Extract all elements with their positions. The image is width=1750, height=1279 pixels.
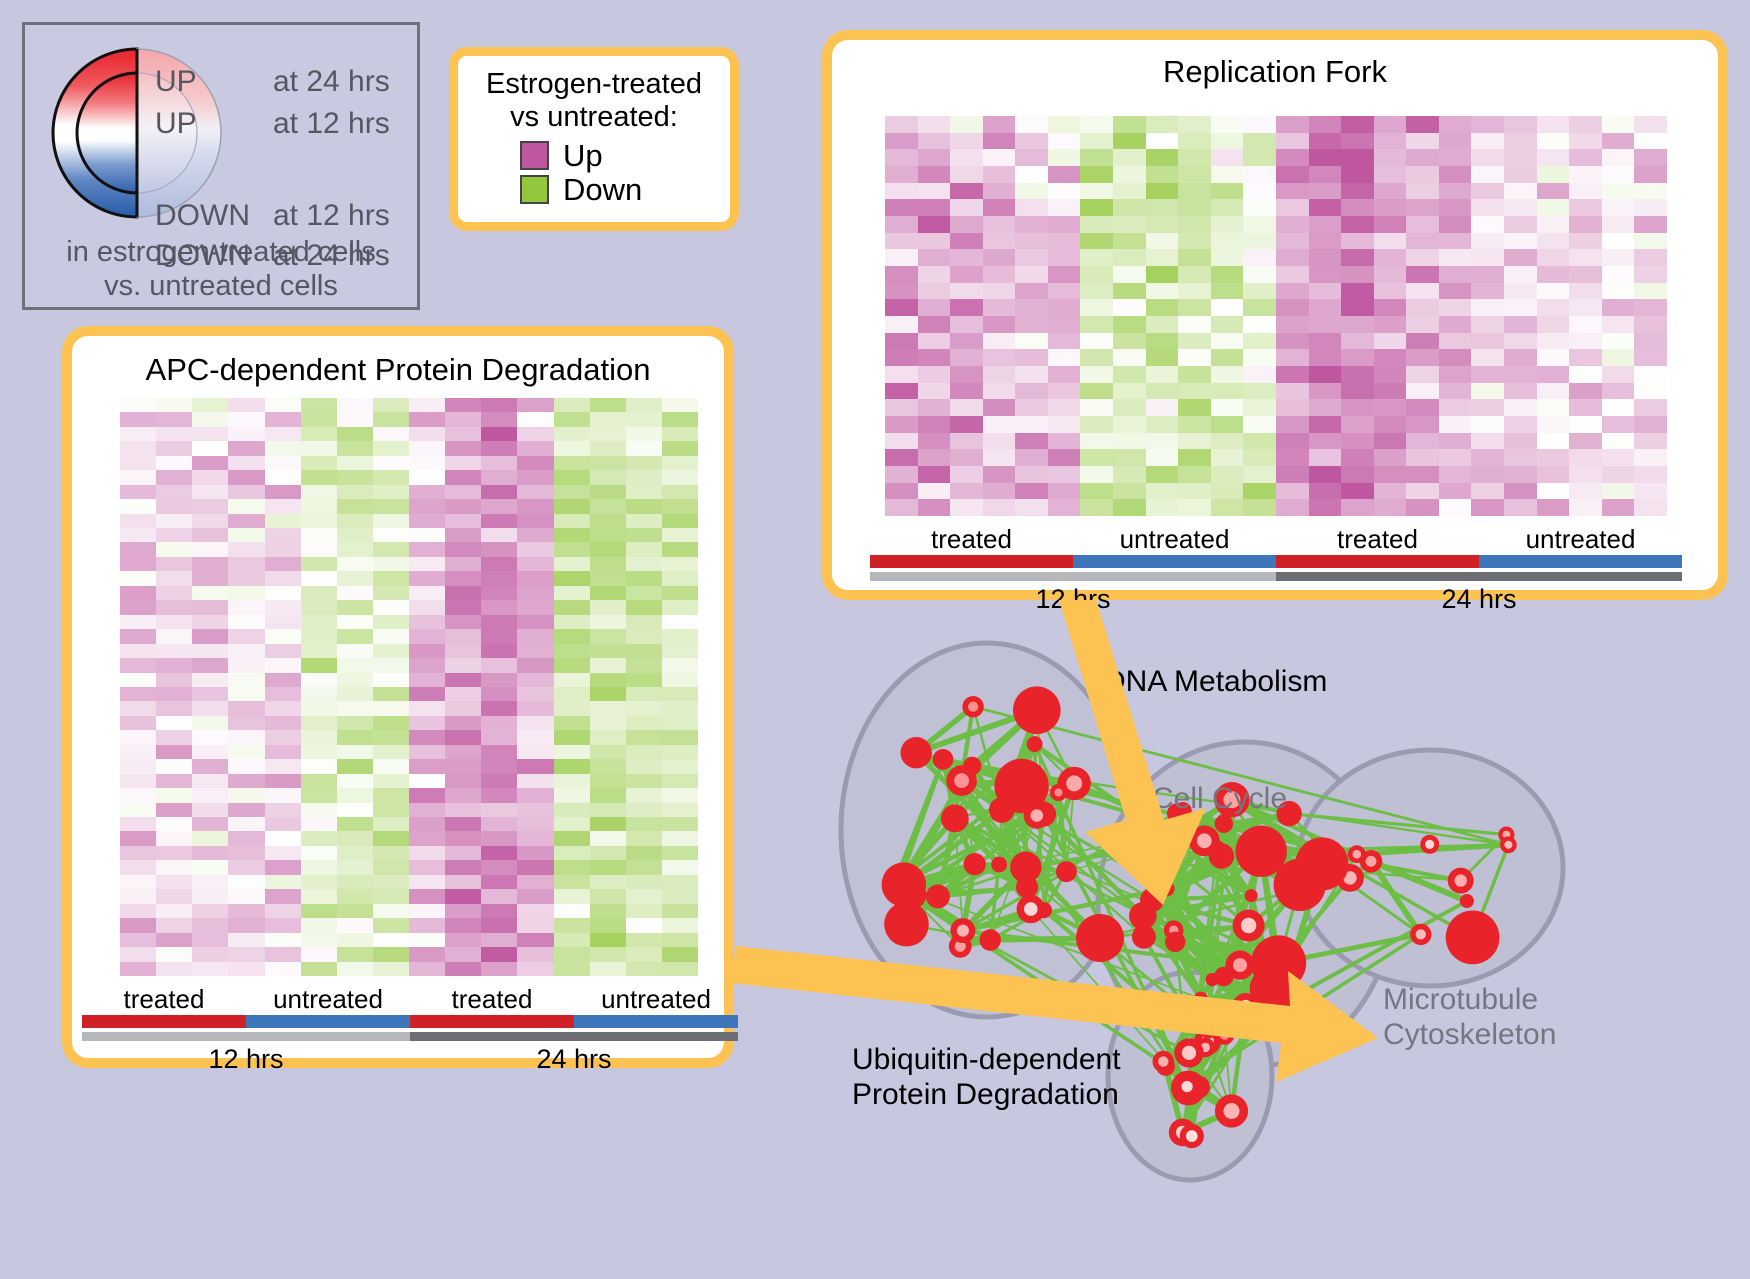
heatmap-cell (517, 542, 553, 556)
heatmap-cell (409, 759, 445, 773)
network-node[interactable] (1013, 686, 1061, 734)
heatmap-cell (445, 398, 481, 412)
heatmap-cell (120, 658, 156, 672)
heatmap-cell (950, 483, 983, 500)
heatmap-cell (120, 774, 156, 788)
heatmap-cell (1634, 149, 1667, 166)
heatmap-cell (373, 571, 409, 585)
heatmap-cell (1276, 316, 1309, 333)
heatmap-cell (445, 817, 481, 831)
heatmap-cell (1080, 449, 1113, 466)
heatmap-cell (1211, 249, 1244, 266)
network-node[interactable] (964, 853, 986, 875)
up-swatch-icon (520, 141, 549, 170)
network-node[interactable] (1245, 889, 1258, 902)
heatmap-cell (120, 687, 156, 701)
heatmap-cell (1309, 149, 1342, 166)
heatmap-cell (481, 441, 517, 455)
heatmap-cell (409, 499, 445, 513)
heatmap-cell (337, 528, 373, 542)
heatmap-cell (301, 470, 337, 484)
heatmap-cell (156, 831, 192, 845)
heatmap-cell (409, 933, 445, 947)
heatmap-cell (1374, 483, 1407, 500)
heatmap-cell (445, 831, 481, 845)
heatmap-cell (1276, 116, 1309, 133)
heatmap-cell (1471, 183, 1504, 200)
heatmap-cell (1113, 399, 1146, 416)
heatmap-cell (918, 216, 951, 233)
heatmap-cell (120, 586, 156, 600)
heatmap-cell (301, 962, 337, 976)
network-node[interactable] (1016, 876, 1038, 898)
heatmap-cell (156, 745, 192, 759)
heatmap-cell (1048, 366, 1081, 383)
network-node-core (1224, 1103, 1240, 1119)
treatment-color-bar (870, 555, 1682, 568)
heatmap-cell (626, 658, 662, 672)
heatmap-cell (1146, 333, 1179, 350)
network-node[interactable] (933, 749, 954, 770)
heatmap-cell (228, 673, 264, 687)
heatmap-cell (1406, 383, 1439, 400)
heatmap-cell (337, 658, 373, 672)
heatmap-cell (1211, 116, 1244, 133)
heatmap-cell (1211, 316, 1244, 333)
heatmap-cell (1471, 149, 1504, 166)
heatmap-cell (409, 514, 445, 528)
network-node[interactable] (941, 805, 969, 833)
heatmap-cell (373, 947, 409, 961)
heatmap-cell (1634, 383, 1667, 400)
heatmap-cell (517, 846, 553, 860)
network-node[interactable] (901, 737, 932, 768)
network-node[interactable] (1295, 837, 1348, 890)
colorscale-row-value: at 12 hrs (273, 201, 390, 231)
heatmap-cell (228, 571, 264, 585)
heatmap-cell (1602, 383, 1635, 400)
heatmap-cell (590, 427, 626, 441)
network-node[interactable] (1237, 829, 1282, 874)
heatmap-cell (1048, 399, 1081, 416)
heatmap-cell (1276, 399, 1309, 416)
heatmap-cell (626, 557, 662, 571)
colorscale-row-key: UP (155, 109, 273, 139)
heatmap-cell (409, 470, 445, 484)
heatmap-cell (590, 730, 626, 744)
heatmap-cell (481, 860, 517, 874)
heatmap-cell (1113, 333, 1146, 350)
figure-canvas: UP at 24 hrs UP at 12 hrs DOWN at 12 hrs… (0, 0, 1750, 1279)
heatmap-cell (1276, 299, 1309, 316)
heatmap-cell (301, 860, 337, 874)
heatmap-cell (373, 615, 409, 629)
heatmap-cell (1015, 166, 1048, 183)
heatmap-cell (626, 918, 662, 932)
heatmap-cell (1569, 333, 1602, 350)
heatmap-cell (554, 875, 590, 889)
heatmap-cell (192, 701, 228, 715)
heatmap-cell (120, 557, 156, 571)
heatmap-cell (1015, 199, 1048, 216)
heatmap-cell (517, 889, 553, 903)
heatmap-cell (1537, 383, 1570, 400)
heatmap-cell (265, 600, 301, 614)
heatmap-cell (626, 701, 662, 715)
heatmap-cell (1602, 483, 1635, 500)
heatmap-cell (918, 499, 951, 516)
heatmap-cell (1178, 149, 1211, 166)
heatmap-cell (626, 427, 662, 441)
heatmap-cell (1569, 499, 1602, 516)
network-node[interactable] (1194, 992, 1208, 1006)
heatmap-cell (265, 831, 301, 845)
heatmap-cell (120, 846, 156, 860)
heatmap-cell (337, 600, 373, 614)
heatmap-cell (228, 860, 264, 874)
heatmap-cell (1341, 133, 1374, 150)
heatmap-cell (1048, 283, 1081, 300)
heatmap-cell (192, 485, 228, 499)
heatmap-cell (554, 600, 590, 614)
heatmap-cell (373, 803, 409, 817)
heatmap-cell (228, 889, 264, 903)
heatmap-cell (265, 701, 301, 715)
heatmap-cell (1439, 266, 1472, 283)
heatmap-cell (918, 266, 951, 283)
heatmap-cell (1439, 366, 1472, 383)
heatmap-cell (554, 528, 590, 542)
heatmap-cell (662, 860, 698, 874)
heatmap-cell (517, 571, 553, 585)
heatmap-cell (1243, 199, 1276, 216)
heatmap-cell (1439, 133, 1472, 150)
network-node[interactable] (1165, 932, 1185, 952)
heatmap-cell (885, 149, 918, 166)
heatmap-cell (1504, 299, 1537, 316)
heatmap-cell (192, 860, 228, 874)
heatmap-cell (590, 571, 626, 585)
heatmap-cell (120, 831, 156, 845)
heatmap-cell (1243, 283, 1276, 300)
network-node[interactable] (1132, 925, 1156, 949)
network-node[interactable] (980, 929, 1001, 950)
heatmap-cell (1113, 416, 1146, 433)
heatmap-cell (1439, 233, 1472, 250)
heatmap-cell (1406, 249, 1439, 266)
heatmap-cell (1243, 449, 1276, 466)
heatmap-cell (1178, 416, 1211, 433)
heatmap-cell (662, 456, 698, 470)
heatmap-cell (554, 803, 590, 817)
heatmap-cell (950, 249, 983, 266)
heatmap-cell (1113, 249, 1146, 266)
heatmap-cell (626, 673, 662, 687)
heatmap-cell (1634, 266, 1667, 283)
heatmap-cell (1374, 116, 1407, 133)
network-node[interactable] (926, 884, 950, 908)
down-swatch-icon (520, 175, 549, 204)
heatmap-cell (517, 962, 553, 976)
heatmap-cell (1276, 433, 1309, 450)
heatmap-cell (445, 441, 481, 455)
heatmap-cell (481, 557, 517, 571)
heatmap-cell (1537, 399, 1570, 416)
heatmap-cell (1146, 399, 1179, 416)
heatmap-cell (1243, 316, 1276, 333)
heatmap-cell (373, 528, 409, 542)
heatmap-cell (1309, 316, 1342, 333)
network-node[interactable] (991, 857, 1007, 873)
heatmap-cell (626, 644, 662, 658)
heatmap-cell (1634, 316, 1667, 333)
network-node[interactable] (1206, 973, 1219, 986)
heatmap-cell (590, 557, 626, 571)
heatmap-cell (301, 817, 337, 831)
heatmap-cell (1178, 233, 1211, 250)
heatmap-cell (554, 615, 590, 629)
heatmap-cell (885, 433, 918, 450)
colorscale-legend: UP at 24 hrs UP at 12 hrs DOWN at 12 hrs… (22, 22, 420, 310)
heatmap-cell (1080, 216, 1113, 233)
heatmap-cell (156, 962, 192, 976)
heatmap-cell (1471, 449, 1504, 466)
heatmap-cell (662, 485, 698, 499)
heatmap-cell (1537, 316, 1570, 333)
heatmap-cell (301, 412, 337, 426)
network-node[interactable] (1251, 935, 1306, 990)
heatmap-cell (337, 759, 373, 773)
group-label: treated (870, 524, 1073, 555)
heatmap-cell (1439, 433, 1472, 450)
heatmap-cell (1243, 249, 1276, 266)
heatmap-cell (1374, 199, 1407, 216)
heatmap-cell (1243, 466, 1276, 483)
heatmap-cell (373, 557, 409, 571)
heatmap-cell (1015, 116, 1048, 133)
heatmap-cell (228, 441, 264, 455)
heatmap-cell (590, 701, 626, 715)
network-node-core (1182, 1081, 1193, 1092)
heatmap-cell (918, 149, 951, 166)
heatmap-cell (885, 216, 918, 233)
legend-item-down: Down (520, 174, 730, 206)
heatmap-cell (228, 701, 264, 715)
heatmap-cell (918, 483, 951, 500)
heatmap-cell (156, 730, 192, 744)
heatmap-cell (1048, 316, 1081, 333)
heatmap-cell (626, 542, 662, 556)
heatmap-cell (662, 629, 698, 643)
heatmap-cell (1569, 299, 1602, 316)
heatmap-cell (337, 644, 373, 658)
heatmap-cell (983, 133, 1016, 150)
heatmap-cell (1113, 349, 1146, 366)
heatmap-cell (192, 889, 228, 903)
heatmap-cell (626, 759, 662, 773)
heatmap-cell (517, 658, 553, 672)
heatmap-cell (445, 542, 481, 556)
cluster-label-microtubule: Microtubule Cytoskeleton (1383, 982, 1556, 1053)
heatmap-cell (409, 701, 445, 715)
heatmap-cell (1569, 366, 1602, 383)
heatmap-cell (120, 701, 156, 715)
heatmap-cell (1276, 499, 1309, 516)
heatmap-cell (1309, 266, 1342, 283)
heatmap-cell (1080, 166, 1113, 183)
heatmap-cell (156, 759, 192, 773)
heatmap-cell (885, 383, 918, 400)
heatmap-cell (1309, 116, 1342, 133)
heatmap-cell (1602, 366, 1635, 383)
heatmap-cell (1537, 249, 1570, 266)
heatmap-cell (1471, 116, 1504, 133)
network-node-core (1366, 856, 1377, 867)
heatmap-cell (373, 658, 409, 672)
heatmap-cell (983, 149, 1016, 166)
heatmap-cell (445, 788, 481, 802)
heatmap-cell (1537, 299, 1570, 316)
heatmap-cell (1243, 499, 1276, 516)
heatmap-cell (1178, 183, 1211, 200)
heatmap-cell (1113, 366, 1146, 383)
heatmap-cell (156, 470, 192, 484)
heatmap-cell (1634, 499, 1667, 516)
heatmap-cell (554, 629, 590, 643)
network-node[interactable] (1209, 843, 1234, 868)
heatmap-cell (1211, 266, 1244, 283)
group-label: untreated (1073, 524, 1276, 555)
heatmap-cell (1146, 116, 1179, 133)
heatmap-cell (1015, 333, 1048, 350)
network-node-core (1220, 1030, 1229, 1039)
cluster-label-ubiquitin: Ubiquitin-dependent Protein Degradation (852, 1042, 1121, 1113)
heatmap-cell (445, 730, 481, 744)
heatmap-cell (885, 499, 918, 516)
heatmap-cell (1211, 499, 1244, 516)
heatmap-cell (1211, 383, 1244, 400)
heatmap-cell (1146, 466, 1179, 483)
heatmap-cell (517, 803, 553, 817)
heatmap-cell (481, 962, 517, 976)
heatmap-cell (983, 383, 1016, 400)
heatmap-cell (590, 947, 626, 961)
network-node[interactable] (1446, 911, 1500, 965)
network-node[interactable] (1460, 894, 1474, 908)
heatmap-cell (1048, 116, 1081, 133)
network-node[interactable] (882, 862, 926, 906)
heatmap-cell (517, 875, 553, 889)
network-node[interactable] (1027, 736, 1043, 752)
heatmap-cell (1080, 366, 1113, 383)
heatmap-cell (228, 803, 264, 817)
heatmap-cell (301, 542, 337, 556)
heatmap-cell (120, 730, 156, 744)
heatmap-cell (1113, 433, 1146, 450)
heatmap-cell (301, 644, 337, 658)
heatmap-cell (228, 774, 264, 788)
cluster-label-dna-metabolism: DNA Metabolism (1104, 665, 1327, 699)
heatmap-cell (983, 266, 1016, 283)
heatmap-cell (1113, 299, 1146, 316)
heatmap-cell (1504, 399, 1537, 416)
heatmap-cell (1537, 433, 1570, 450)
heatmap-cell (1015, 416, 1048, 433)
network-node[interactable] (1269, 1002, 1289, 1022)
heatmap-cell (517, 904, 553, 918)
heatmap-cell (983, 116, 1016, 133)
network-node[interactable] (1140, 888, 1164, 912)
heatmap-cell (1080, 483, 1113, 500)
heatmap-cell (337, 701, 373, 715)
heatmap-cell (481, 947, 517, 961)
heatmap-cell (1178, 449, 1211, 466)
heatmap-cell (1178, 366, 1211, 383)
heatmap-cell (1048, 299, 1081, 316)
heatmap-cell (1113, 266, 1146, 283)
cluster-ellipse-dna-metabolism (841, 643, 1133, 1017)
heatmap-cell (445, 571, 481, 585)
heatmap-cell (1309, 399, 1342, 416)
heatmap-cell (1602, 316, 1635, 333)
heatmap-cell (517, 831, 553, 845)
heatmap-cell (1634, 399, 1667, 416)
heatmap-cell (445, 759, 481, 773)
heatmap-cell (1015, 399, 1048, 416)
heatmap-cell (1374, 249, 1407, 266)
heatmap-cell (1471, 416, 1504, 433)
heatmap-cell (337, 774, 373, 788)
heatmap-cell (1341, 266, 1374, 283)
heatmap-cell (409, 644, 445, 658)
network-node[interactable] (1056, 861, 1077, 882)
heatmap-cell (1504, 133, 1537, 150)
heatmap-cell (373, 701, 409, 715)
heatmap-cell (662, 658, 698, 672)
heatmap-cell (1374, 283, 1407, 300)
heatmap-cell (301, 730, 337, 744)
network-node[interactable] (1076, 914, 1124, 962)
heatmap-cell (1341, 166, 1374, 183)
heatmap-cell (1341, 116, 1374, 133)
heatmap-cell (228, 470, 264, 484)
heatmap-cell (120, 788, 156, 802)
heatmap-cell (1406, 483, 1439, 500)
panel-title-apc: APC-dependent Protein Degradation (72, 352, 724, 388)
heatmap-cell (337, 730, 373, 744)
heatmap-cell (517, 716, 553, 730)
heatmap-cell (373, 600, 409, 614)
heatmap-cell (481, 687, 517, 701)
heatmap-cell (1309, 499, 1342, 516)
heatmap-cell (1146, 183, 1179, 200)
heatmap-cell (885, 366, 918, 383)
heatmap-cell (337, 947, 373, 961)
heatmap-cell (1113, 183, 1146, 200)
network-node[interactable] (1215, 815, 1233, 833)
heatmap-cell (1146, 449, 1179, 466)
heatmap-cell (885, 466, 918, 483)
heatmap-cell (1569, 249, 1602, 266)
heatmap-cell (662, 586, 698, 600)
heatmap-cell (1602, 399, 1635, 416)
heatmap-cell (1602, 216, 1635, 233)
network-node[interactable] (1137, 828, 1176, 867)
heatmap-cell (373, 398, 409, 412)
heatmap-cell (120, 528, 156, 542)
heatmap-cell (1602, 499, 1635, 516)
heatmap-cell (156, 542, 192, 556)
